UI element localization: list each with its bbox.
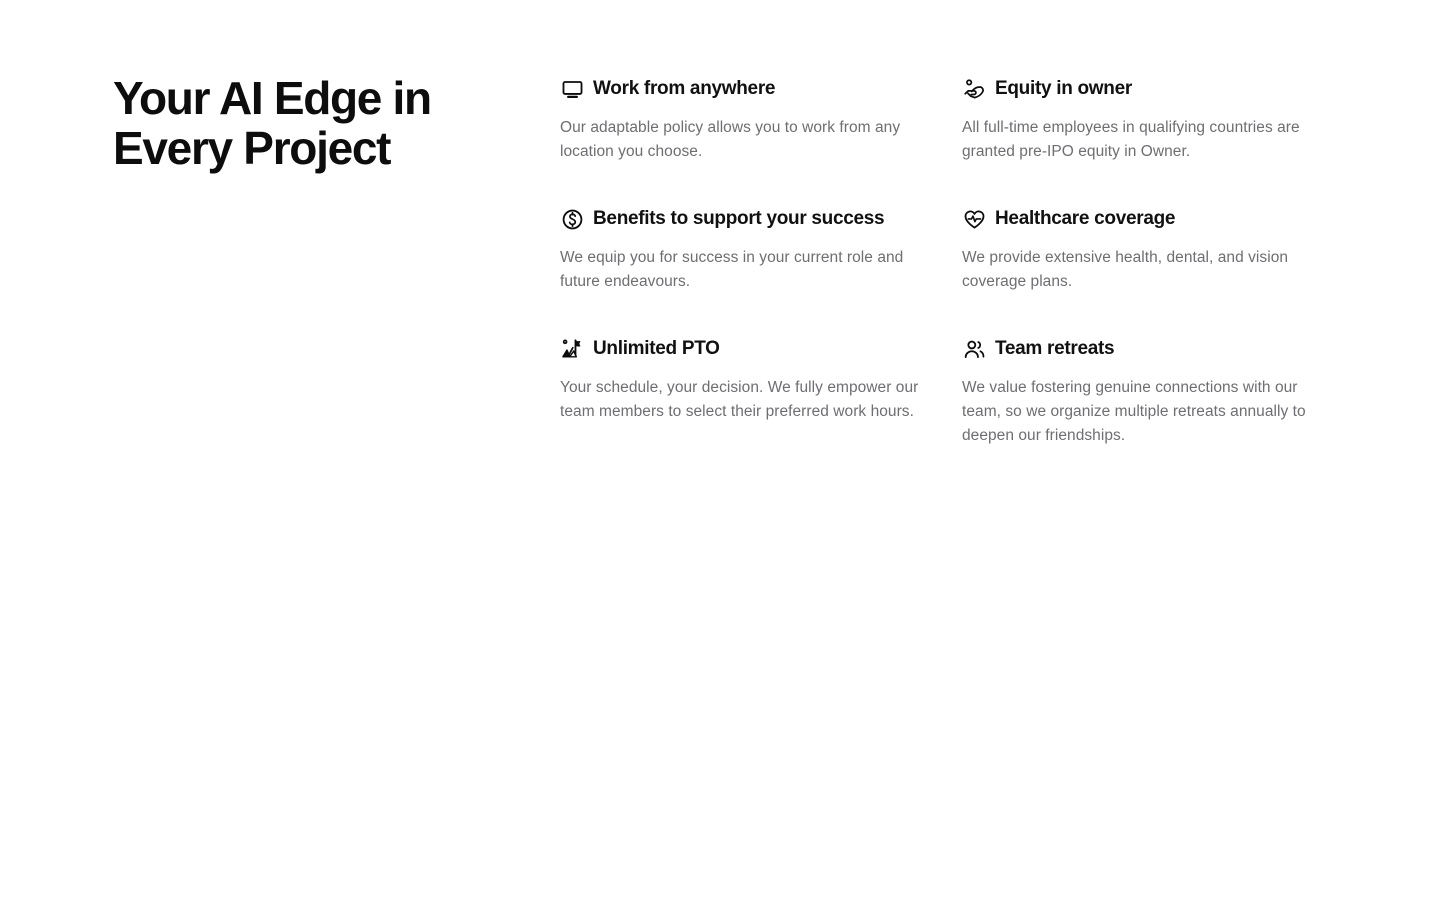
feature-description: All full-time employees in qualifying co… <box>962 116 1330 164</box>
feature-description: Your schedule, your decision. We fully e… <box>560 376 928 424</box>
feature-header: Unlimited PTO <box>560 336 932 362</box>
feature-header: Equity in owner <box>962 76 1334 102</box>
feature-item-equity-in-owner: Equity in owner All full-time employees … <box>962 76 1334 164</box>
feature-description: We provide extensive health, dental, and… <box>962 246 1330 294</box>
features-grid: Work from anywhere Our adaptable policy … <box>560 76 1360 448</box>
feature-header: Benefits to support your success <box>560 206 932 232</box>
feature-item-team-retreats: Team retreats We value fostering genuine… <box>962 336 1334 448</box>
feature-title: Work from anywhere <box>593 77 775 101</box>
heading-column: Your AI Edge in Every Project <box>113 74 513 173</box>
feature-description: We equip you for success in your current… <box>560 246 928 294</box>
heart-pulse-icon <box>962 207 986 231</box>
dollar-circle-icon <box>560 207 584 231</box>
feature-item-unlimited-pto: Unlimited PTO Your schedule, your decisi… <box>560 336 932 448</box>
feature-item-healthcare-coverage: Healthcare coverage We provide extensive… <box>962 206 1334 294</box>
feature-title: Team retreats <box>995 337 1114 361</box>
feature-header: Healthcare coverage <box>962 206 1334 232</box>
users-icon <box>962 337 986 361</box>
feature-title: Benefits to support your success <box>593 207 884 231</box>
feature-item-work-from-anywhere: Work from anywhere Our adaptable policy … <box>560 76 932 164</box>
page-title: Your AI Edge in Every Project <box>113 74 513 173</box>
feature-title: Equity in owner <box>995 77 1132 101</box>
feature-header: Team retreats <box>962 336 1334 362</box>
feature-header: Work from anywhere <box>560 76 932 102</box>
feature-title: Unlimited PTO <box>593 337 720 361</box>
benefits-section: Your AI Edge in Every Project Work from … <box>0 0 1440 900</box>
monitor-icon <box>560 77 584 101</box>
feature-description: Our adaptable policy allows you to work … <box>560 116 928 164</box>
person-hiking-icon <box>560 337 584 361</box>
feature-title: Healthcare coverage <box>995 207 1175 231</box>
feature-description: We value fostering genuine connections w… <box>962 376 1330 448</box>
feature-item-benefits: Benefits to support your success We equi… <box>560 206 932 294</box>
hand-holding-person-icon <box>962 77 986 101</box>
